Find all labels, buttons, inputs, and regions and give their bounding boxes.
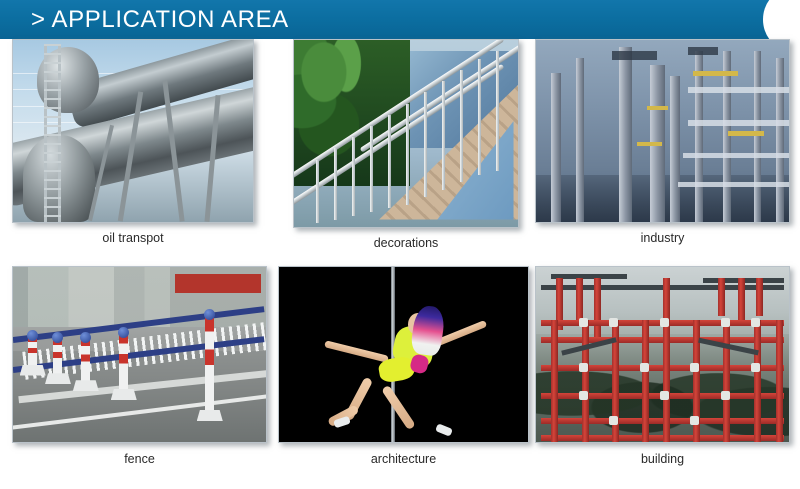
gallery-item-building[interactable]: building xyxy=(535,266,790,443)
photo-frame[interactable] xyxy=(535,39,790,223)
road-guardrail-photo xyxy=(13,267,266,442)
photo-frame[interactable] xyxy=(12,266,267,443)
gallery-item-caption: industry xyxy=(535,231,790,245)
gallery-item-caption: decorations xyxy=(293,236,519,250)
refinery-plant-photo xyxy=(536,40,789,222)
gallery-item-oil-transpot[interactable]: oil transpot xyxy=(12,39,254,223)
application-area-gallery: oil transpot xyxy=(0,39,800,489)
gallery-item-fence[interactable]: fence xyxy=(12,266,267,443)
gallery-item-caption: architecture xyxy=(278,452,529,466)
oil-pipeline-photo xyxy=(13,40,253,222)
gallery-row: oil transpot xyxy=(0,39,800,264)
stainless-railing-staircase-photo xyxy=(294,40,518,227)
gallery-item-industry[interactable]: industry xyxy=(535,39,790,223)
page-title: > APPLICATION AREA xyxy=(31,0,289,39)
photo-frame[interactable] xyxy=(535,266,790,443)
header-bar-rounded-cutout xyxy=(763,0,795,39)
pole-dancer-photo xyxy=(279,267,528,442)
photo-frame[interactable] xyxy=(278,266,529,443)
photo-frame[interactable] xyxy=(12,39,254,223)
gallery-row: fence xyxy=(0,266,800,489)
gallery-item-caption: building xyxy=(535,452,790,466)
gallery-item-caption: oil transpot xyxy=(12,231,254,245)
red-scaffolding-photo xyxy=(536,267,789,442)
page-header-banner: > APPLICATION AREA xyxy=(0,0,795,39)
gallery-item-caption: fence xyxy=(12,452,267,466)
gallery-item-decorations[interactable]: decorations xyxy=(293,39,519,228)
photo-frame[interactable] xyxy=(293,39,519,228)
gallery-item-architecture[interactable]: architecture xyxy=(278,266,529,443)
